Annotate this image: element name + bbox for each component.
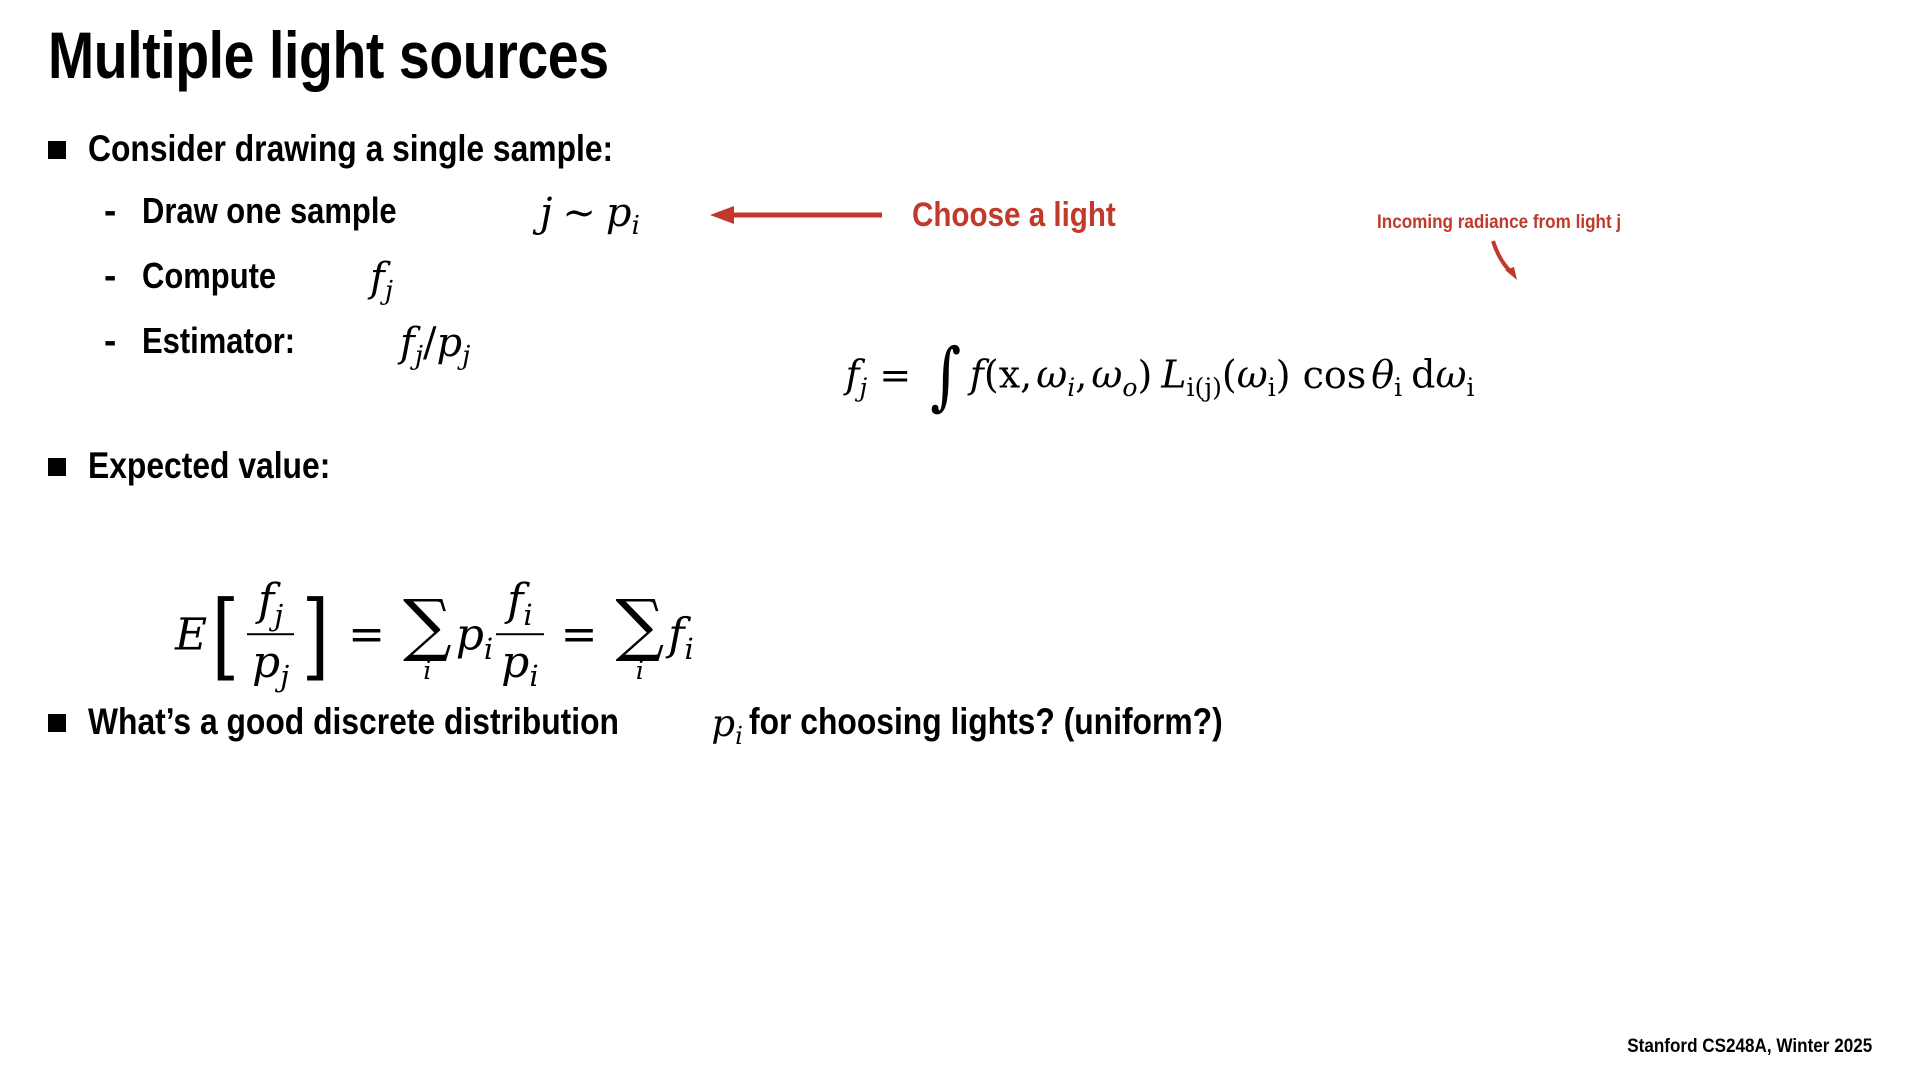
formula-draw-sample: j∼pi <box>540 190 640 241</box>
math-p: p <box>456 610 484 661</box>
math-lhs-subscript: j <box>860 373 868 402</box>
square-bullet-icon <box>48 458 66 476</box>
math-left-bracket: [ <box>212 581 240 691</box>
formula-compute-fj: fj <box>370 255 393 306</box>
bullet-question-before-label: What’s a good discrete distribution <box>88 701 619 743</box>
annotation-choose-a-light: Choose a light <box>912 196 1116 235</box>
math-omega-i2: ω <box>1237 353 1268 397</box>
formula-pi-inline: pi <box>705 702 749 750</box>
math-p: p <box>606 190 632 236</box>
annotation-incoming-radiance: Incoming radiance from light j <box>1377 212 1621 234</box>
math-f-subscript: j <box>415 340 423 371</box>
bullet-consider-drawing: Consider drawing a single sample: <box>48 128 699 170</box>
math-fraction-fj-pj: fjpj <box>247 576 294 694</box>
math-f: f <box>370 255 385 301</box>
math-f: f <box>668 610 684 661</box>
formula-expected-value: E[fjpj]=∑ipifipi=∑ifi <box>175 579 694 697</box>
math-f: f <box>970 353 984 397</box>
math-p-subscript: j <box>462 340 470 371</box>
math-f-subscript: j <box>385 275 393 306</box>
sub-bullet-compute-label: Compute <box>142 255 276 297</box>
sub-bullet-draw-one-sample: - Draw one sample <box>104 190 438 232</box>
math-equals-2: = <box>547 610 612 661</box>
formula-estimator: fj/pj <box>400 320 470 371</box>
math-omega-o: ω <box>1091 353 1122 397</box>
bullet-consider-label: Consider drawing a single sample: <box>88 128 613 170</box>
math-p-subscript: i <box>484 632 493 666</box>
math-p: p <box>501 637 529 688</box>
square-bullet-icon <box>48 141 66 159</box>
math-equals-1: = <box>334 610 399 661</box>
bullet-expected-value: Expected value: <box>48 445 370 487</box>
math-sum-index: i <box>423 659 431 685</box>
math-comma: , <box>1020 353 1036 397</box>
math-omega-d-subscript: i <box>1467 373 1475 402</box>
slide-footer: Stanford CS248A, Winter 2025 <box>1627 1036 1872 1058</box>
math-j: j <box>540 190 552 236</box>
math-p-subscript: i <box>529 659 538 693</box>
math-f: f <box>258 576 274 627</box>
math-summation-1: ∑i <box>403 596 452 685</box>
math-omega-i: ω <box>1036 353 1067 397</box>
formula-integral-radiance: fj=∫f(x,ωi,ωo)Li(j)(ωi)cosθidωi <box>845 335 1474 421</box>
math-lhs-f: f <box>845 353 859 397</box>
math-slash: / <box>423 320 436 366</box>
math-omega-i-subscript: i <box>1067 373 1075 402</box>
math-f: f <box>507 576 523 627</box>
dash-bullet-icon: - <box>104 255 142 297</box>
bullet-question-after-label: for choosing lights? (uniform?) <box>749 701 1223 743</box>
math-theta: θ <box>1371 353 1394 397</box>
math-comma: , <box>1075 353 1091 397</box>
math-f-subscript: i <box>684 632 693 666</box>
math-p: p <box>436 320 462 366</box>
math-x: x <box>999 353 1020 397</box>
math-right-bracket: ] <box>302 581 330 691</box>
math-theta-subscript: i <box>1394 373 1411 402</box>
math-cos: cos <box>1303 353 1372 397</box>
dash-bullet-icon: - <box>104 190 142 232</box>
math-integral-sign: ∫ <box>930 333 961 419</box>
math-fraction-fi-pi: fipi <box>496 576 543 694</box>
math-sigma-icon: ∑ <box>403 596 452 659</box>
math-fraction-denominator: pi <box>496 633 543 693</box>
sub-bullet-estimator: - Estimator: <box>104 320 320 362</box>
sub-bullet-estimator-label: Estimator: <box>142 320 295 362</box>
math-p: p <box>711 702 735 745</box>
math-fraction-numerator: fj <box>253 576 288 633</box>
math-p-subscript: j <box>280 659 289 693</box>
dash-bullet-icon: - <box>104 320 142 362</box>
math-p-subscript: i <box>632 210 640 241</box>
math-L-subscript: i(j) <box>1187 373 1222 402</box>
math-f-subscript: i <box>523 598 532 632</box>
math-tilde: ∼ <box>552 190 606 236</box>
math-p: p <box>252 637 280 688</box>
page-title: Multiple light sources <box>48 22 609 88</box>
math-L: L <box>1161 353 1186 397</box>
math-omega-d: ω <box>1436 353 1467 397</box>
sub-bullet-draw-label: Draw one sample <box>142 190 397 232</box>
math-omega-o-subscript: o <box>1122 373 1137 402</box>
math-rparen2: ) <box>1276 353 1303 397</box>
math-E: E <box>175 610 207 661</box>
square-bullet-icon <box>48 714 66 732</box>
math-f: f <box>400 320 415 366</box>
math-summation-2: ∑i <box>616 596 665 685</box>
math-equals: = <box>867 353 923 397</box>
bullet-expected-label: Expected value: <box>88 445 330 487</box>
math-f-subscript: j <box>274 598 283 632</box>
arrow-incoming-radiance-icon <box>1487 238 1535 286</box>
math-sigma-icon: ∑ <box>616 596 665 659</box>
math-p-subscript: i <box>735 721 743 750</box>
math-d: d <box>1411 353 1435 397</box>
math-lparen2: ( <box>1222 353 1237 397</box>
math-lparen: ( <box>984 353 999 397</box>
math-fraction-denominator: pj <box>247 633 294 693</box>
arrow-choose-light-icon <box>706 204 888 226</box>
math-rparen: ) <box>1137 353 1161 397</box>
bullet-discrete-distribution: What’s a good discrete distribution pi f… <box>48 700 1300 748</box>
math-sum-index: i <box>636 659 644 685</box>
math-fraction-numerator: fi <box>502 576 538 633</box>
sub-bullet-compute: - Compute <box>104 255 298 297</box>
